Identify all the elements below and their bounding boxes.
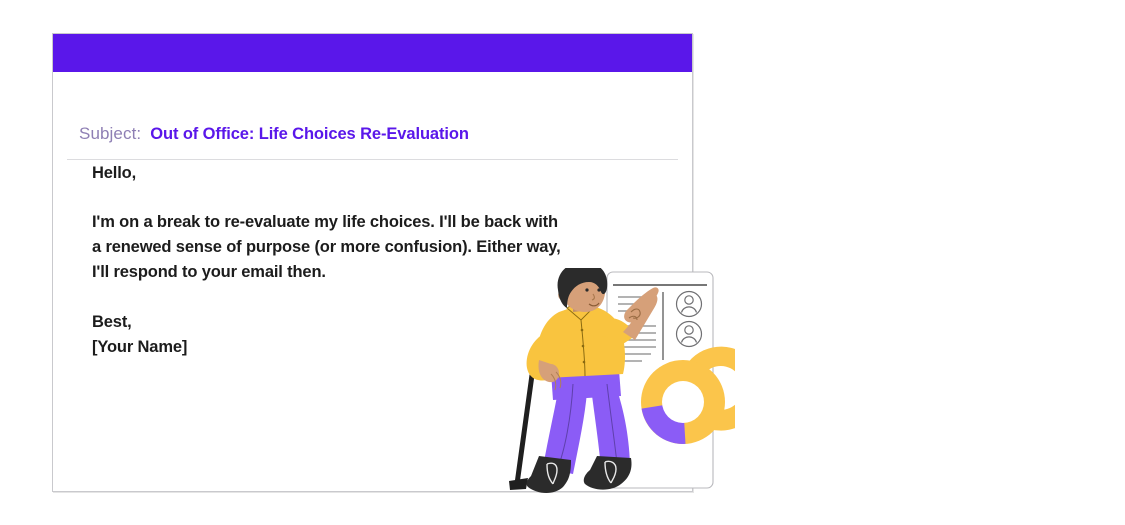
email-body: Hello, I'm on a break to re-evaluate my …: [92, 161, 672, 360]
body-signoff: Best,: [92, 310, 672, 335]
body-paragraph-line: a renewed sense of purpose (or more conf…: [92, 235, 672, 260]
body-signature: [Your Name]: [92, 335, 672, 360]
subject-value: Out of Office: Life Choices Re-Evaluatio…: [150, 125, 469, 144]
email-card: Subject: Out of Office: Life Choices Re-…: [52, 33, 693, 492]
subject-label: Subject:: [79, 124, 141, 144]
body-paragraph-line: I'll respond to your email then.: [92, 260, 672, 285]
body-spacer-1: [92, 186, 672, 210]
card-header-bar: [53, 34, 692, 72]
body-spacer-2: [92, 285, 672, 310]
subject-line: Subject: Out of Office: Life Choices Re-…: [79, 124, 469, 144]
body-paragraph-line: I'm on a break to re-evaluate my life ch…: [92, 210, 672, 235]
body-greeting: Hello,: [92, 161, 672, 186]
subject-row: Subject: Out of Office: Life Choices Re-…: [53, 72, 692, 149]
body-paragraph: I'm on a break to re-evaluate my life ch…: [92, 210, 672, 285]
subject-divider: [67, 159, 678, 160]
